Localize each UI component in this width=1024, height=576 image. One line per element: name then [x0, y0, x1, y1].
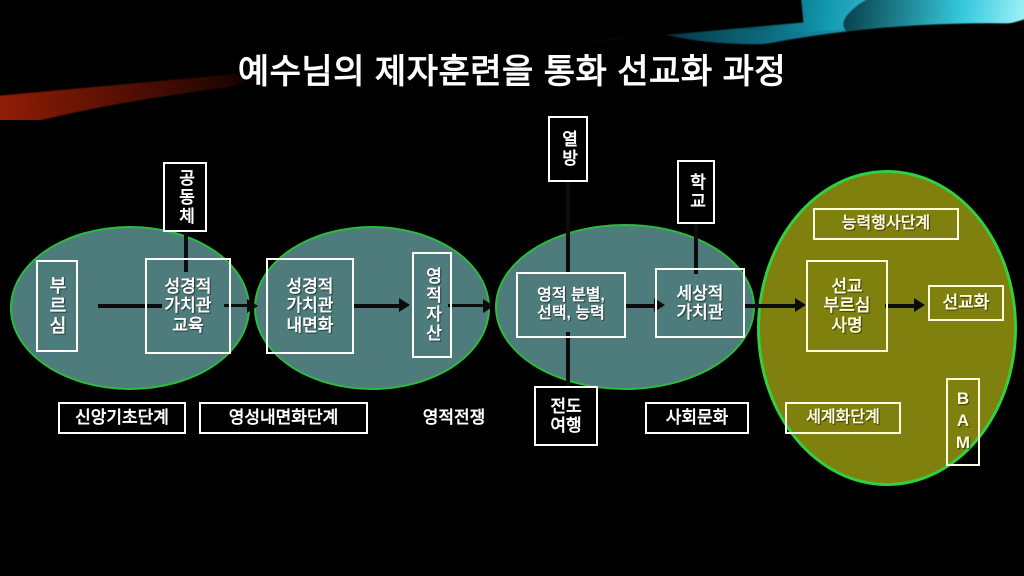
input-community[interactable]: 공동체	[163, 162, 207, 232]
process-diagram: 부르심 성경적 가치관 교육 공동체 신앙기초단계 성경적 가치관 내면화 영적…	[0, 120, 1024, 576]
stage-4-label: 세계화단계	[785, 402, 901, 434]
arrow-stage3-to-stage4	[795, 298, 806, 312]
connector-mission-to-missionization	[885, 304, 917, 308]
input-nations[interactable]: 열방	[548, 116, 588, 182]
connector-stage2-to-stage3	[448, 304, 486, 307]
node-bam[interactable]: BAM	[946, 378, 980, 466]
node-spiritual-asset[interactable]: 영적자산	[412, 252, 452, 358]
arrow-mission-to-missionization	[914, 298, 925, 312]
input-school[interactable]: 학교	[677, 160, 715, 224]
node-biblical-values-education[interactable]: 성경적 가치관 교육	[145, 258, 231, 354]
connector-nations-down	[566, 180, 570, 274]
slide-title: 예수님의 제자훈련을 통화 선교화 과정	[0, 44, 1024, 93]
stage-1-label: 신앙기초단계	[58, 402, 186, 434]
node-worldly-values[interactable]: 세상적 가치관	[655, 268, 745, 338]
node-calling[interactable]: 부르심	[36, 260, 78, 352]
node-biblical-values-internalization[interactable]: 성경적 가치관 내면화	[266, 258, 354, 354]
input-social-culture[interactable]: 사회문화	[645, 402, 749, 434]
connector-stage3-to-stage4	[744, 304, 798, 308]
stage-2-label: 영성내면화단계	[199, 402, 368, 434]
node-mission-calling[interactable]: 선교 부르심 사명	[806, 260, 888, 352]
connector-school-down	[694, 222, 698, 274]
arrow-internalization-to-asset	[399, 298, 410, 312]
node-missionization[interactable]: 선교화	[928, 285, 1004, 321]
arrow-stage2-to-stage3	[483, 299, 494, 313]
stage-4-top-label: 능력행사단계	[813, 208, 959, 240]
connector-evangelism-up	[566, 332, 570, 390]
node-spiritual-discernment[interactable]: 영적 분별, 선택, 능력	[516, 272, 626, 338]
connector-internalization-to-asset	[352, 304, 402, 308]
arrow-stage1-to-stage2	[247, 299, 258, 313]
stage-3-label: 영적전쟁	[394, 404, 514, 432]
connector-discernment-to-worldly	[625, 304, 657, 308]
input-evangelism-trip[interactable]: 전도 여행	[534, 386, 598, 446]
